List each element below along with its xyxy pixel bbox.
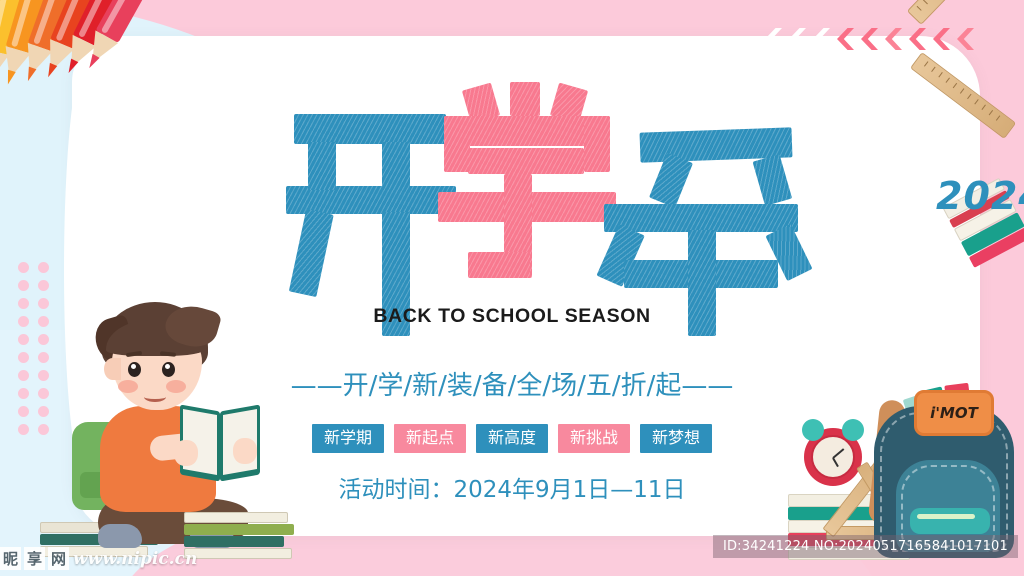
- boy-cheek-left: [118, 380, 138, 393]
- ruler-tick: [989, 110, 993, 115]
- ruler-tick: [967, 94, 971, 99]
- badge-4[interactable]: 新挑战: [558, 424, 630, 453]
- site-watermark: 昵享网 www.nipic.cn: [0, 547, 197, 570]
- ruler-tick: [981, 105, 985, 110]
- ruler-tick: [996, 115, 1000, 120]
- ruler-tick: [953, 83, 957, 88]
- decor-dot: [18, 262, 29, 273]
- boy-reading-illustration: [40, 296, 290, 558]
- badge-2[interactable]: 新起点: [394, 424, 466, 453]
- boy-eye-right: [162, 362, 175, 377]
- boy-mouth: [144, 392, 166, 402]
- badge-3[interactable]: 新高度: [476, 424, 548, 453]
- decor-dot: [18, 406, 29, 417]
- ruler-tick: [917, 6, 922, 11]
- watermark-char: 网: [48, 547, 69, 570]
- backpack-scene: i'MOT: [788, 364, 1018, 564]
- chevron-left-icon: [837, 28, 854, 50]
- decor-dot: [38, 262, 49, 273]
- decor-dot: [18, 334, 29, 345]
- poster-canvas: 2024 BACK TO SCHOOL SEASON ——开/学/新/装/备/全…: [0, 0, 1024, 576]
- decor-dot: [38, 280, 49, 291]
- ruler-tick: [923, 0, 928, 4]
- boy-cheek-right: [166, 380, 186, 393]
- title-char-kai: [286, 114, 456, 336]
- colored-pencils-icon: [0, 0, 218, 124]
- title-char-xue: [438, 86, 616, 278]
- badge-5[interactable]: 新梦想: [640, 424, 712, 453]
- chevron-left-icon: [765, 28, 782, 50]
- chevron-left-icon: [789, 28, 806, 50]
- ruler-tick: [938, 72, 942, 77]
- site-watermark-cn: 昵享网: [0, 547, 69, 570]
- ruler-bar-a: [910, 52, 1016, 139]
- chevron-left-icon: [813, 28, 830, 50]
- book-stack-right: [184, 512, 304, 560]
- year-label: 2024: [936, 174, 1024, 218]
- backpack-zipper-pocket: [910, 508, 990, 534]
- boy-eye-left: [128, 362, 141, 377]
- image-id-watermark: ID:34241224 NO:20240517165841017101: [713, 535, 1018, 558]
- ruler-tick: [960, 88, 964, 93]
- main-title: 2024: [286, 86, 806, 336]
- ruler-icon: [908, 0, 1024, 132]
- ruler-tick: [974, 99, 978, 104]
- ruler-tick: [931, 67, 935, 72]
- decor-dot: [18, 352, 29, 363]
- decor-dot: [18, 280, 29, 291]
- badge-1[interactable]: 新学期: [312, 424, 384, 453]
- ruler-tick: [924, 61, 928, 66]
- site-watermark-url: www.nipic.cn: [73, 549, 197, 569]
- backpack-patch: i'MOT: [914, 390, 994, 436]
- boy-ear: [104, 358, 121, 380]
- chevron-left-icon: [885, 28, 902, 50]
- boy-hand-right: [233, 438, 257, 464]
- ruler-tick: [946, 77, 950, 82]
- boy-hand-left: [174, 440, 198, 466]
- chevron-left-icon: [861, 28, 878, 50]
- watermark-char: 享: [24, 547, 45, 570]
- ruler-bar-b: [907, 0, 991, 25]
- watermark-char: 昵: [0, 547, 21, 570]
- boy-shoe-left: [98, 524, 142, 548]
